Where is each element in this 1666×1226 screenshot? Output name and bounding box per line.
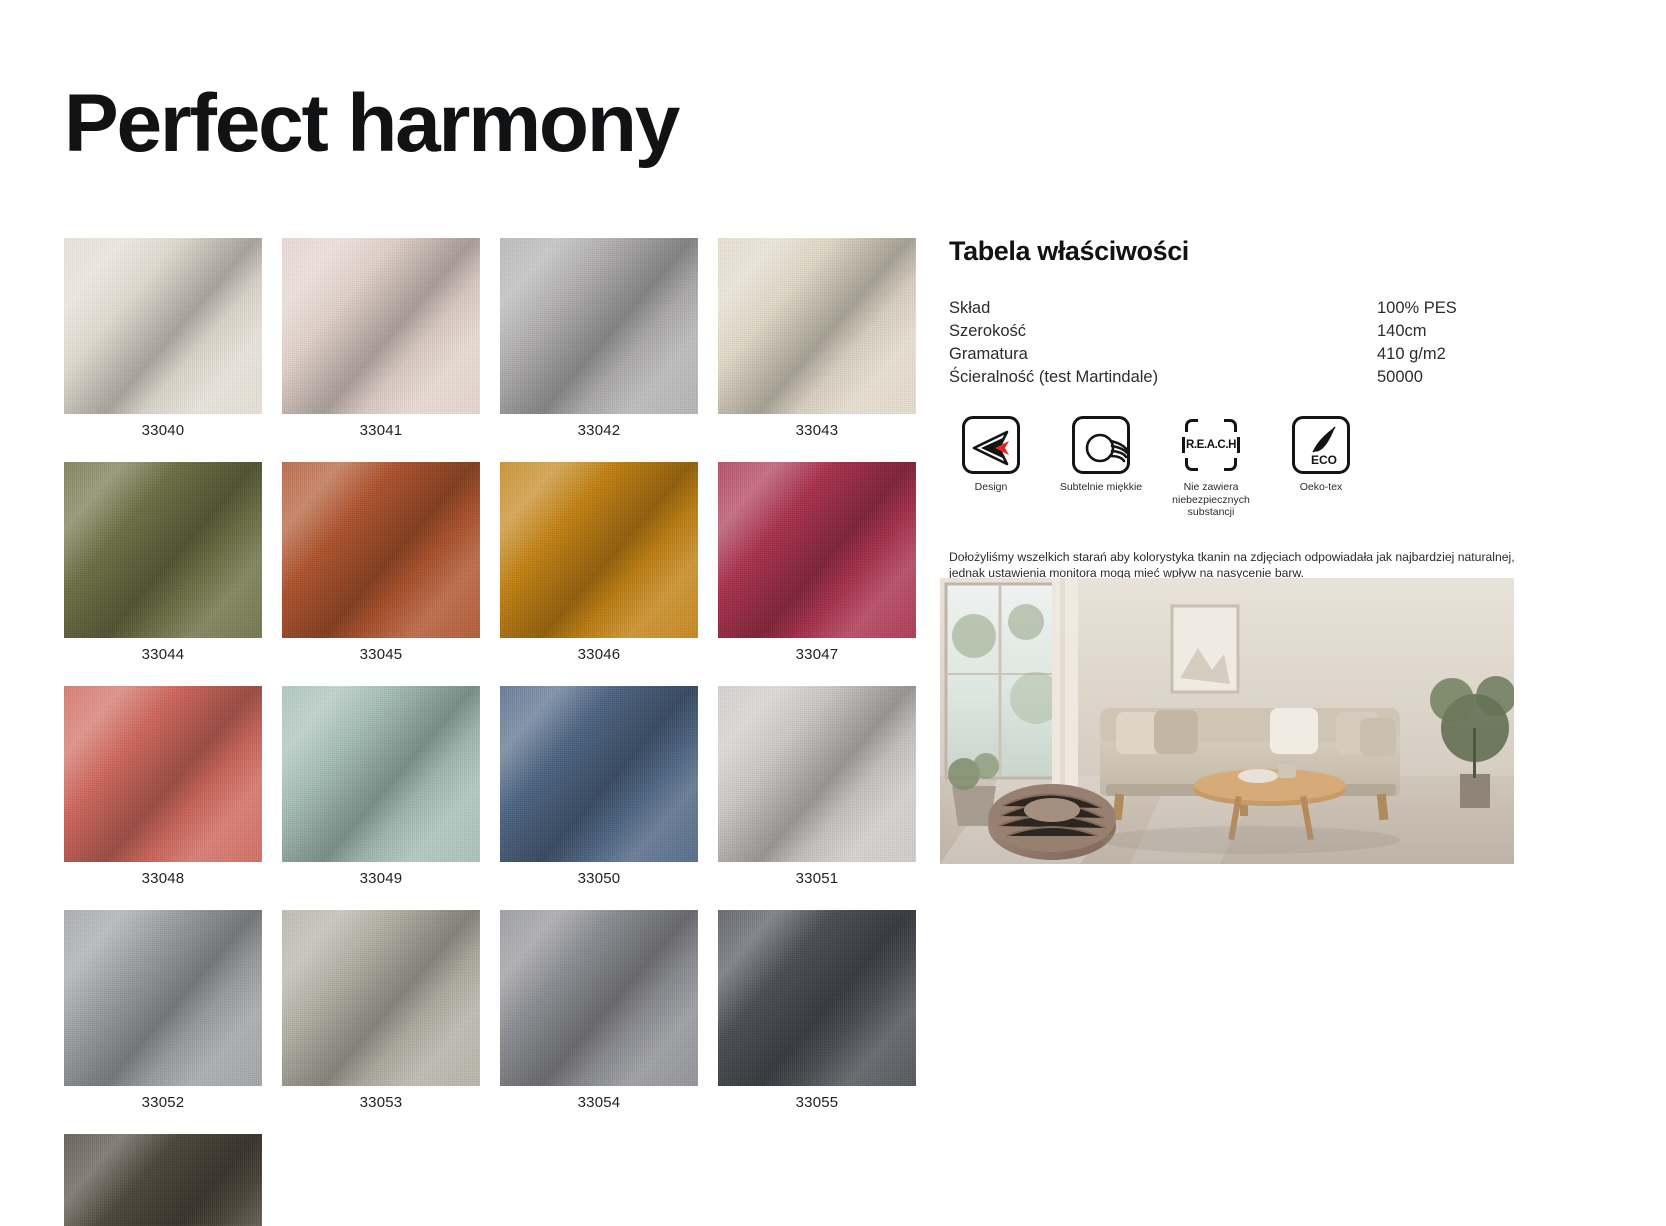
fabric-swatch[interactable]: 33050	[500, 686, 698, 894]
badge-caption: Oeko-tex	[1279, 481, 1363, 494]
spec-value: 50000	[1377, 366, 1529, 389]
fabric-swatch-image[interactable]	[64, 1134, 262, 1226]
fabric-swatch-image[interactable]	[500, 462, 698, 638]
fabric-texture	[64, 910, 262, 1086]
fabric-texture	[282, 910, 480, 1086]
fabric-swatch-code: 33049	[282, 862, 480, 894]
room-interior-photo	[940, 578, 1514, 864]
fabric-texture	[500, 686, 698, 862]
fabric-swatch[interactable]: 33051	[718, 686, 916, 894]
certification-badge: R.E.A.C.HNie zawiera niebezpiecznych sub…	[1169, 416, 1253, 519]
fabric-swatch-code: 33048	[64, 862, 262, 894]
fabric-swatch[interactable]: 33044	[64, 462, 262, 670]
spec-value: 410 g/m2	[1377, 343, 1529, 366]
fabric-swatch-code: 33053	[282, 1086, 480, 1118]
fabric-texture	[64, 462, 262, 638]
fabric-swatch-code: 33055	[718, 1086, 916, 1118]
fabric-swatch[interactable]: 33043	[718, 238, 916, 446]
fabric-texture	[64, 1134, 262, 1226]
fabric-swatch-image[interactable]	[282, 238, 480, 414]
specification-panel: Tabela właściwości Skład100% PESSzerokoś…	[949, 236, 1529, 613]
spec-key: Szerokość	[949, 320, 1377, 343]
oeko-tex-leaf-icon: ECO	[1295, 419, 1350, 474]
fabric-swatch-image[interactable]	[718, 462, 916, 638]
fabric-swatch[interactable]: 33040	[64, 238, 262, 446]
fabric-swatch-image[interactable]	[64, 462, 262, 638]
certification-badges: DesignSubtelnie miękkieR.E.A.C.HNie zawi…	[949, 416, 1529, 519]
catalog-page: Perfect harmony 330403304133042330433304…	[0, 0, 1666, 1226]
reach-label: R.E.A.C.H	[1182, 439, 1240, 451]
fabric-swatch[interactable]: 33054	[500, 910, 698, 1118]
fabric-swatch-image[interactable]	[500, 686, 698, 862]
fabric-swatch[interactable]: 33047	[718, 462, 916, 670]
fabric-swatch-image[interactable]	[500, 910, 698, 1086]
fabric-swatch-image[interactable]	[718, 686, 916, 862]
fabric-swatch-code: 33047	[718, 638, 916, 670]
certification-badge: Design	[949, 416, 1033, 519]
badge-caption: Subtelnie miękkie	[1059, 481, 1143, 494]
fabric-swatch-image[interactable]	[64, 686, 262, 862]
spec-value: 140cm	[1377, 320, 1529, 343]
fabric-texture	[718, 686, 916, 862]
fabric-swatch[interactable]: 33055	[718, 910, 916, 1118]
interior-illustration	[940, 578, 1514, 864]
disclaimer-paragraph-1: Dołożyliśmy wszelkich starań aby kolorys…	[949, 549, 1525, 581]
fabric-swatch-image[interactable]	[282, 462, 480, 638]
spec-row: Szerokość140cm	[949, 320, 1529, 343]
fabric-swatch-image[interactable]	[282, 686, 480, 862]
fabric-swatch-image[interactable]	[500, 238, 698, 414]
fabric-swatch-code: 33042	[500, 414, 698, 446]
spec-row: Skład100% PES	[949, 297, 1529, 320]
page-title: Perfect harmony	[64, 81, 678, 167]
spec-key: Ścieralność (test Martindale)	[949, 366, 1377, 389]
fabric-texture	[282, 238, 480, 414]
spec-key: Skład	[949, 297, 1377, 320]
fabric-swatch[interactable]: 33046	[500, 462, 698, 670]
badge-caption: Design	[949, 481, 1033, 494]
badge-caption: Nie zawiera niebezpiecznych substancji	[1169, 481, 1253, 519]
fabric-texture	[500, 238, 698, 414]
spec-value: 100% PES	[1377, 297, 1529, 320]
fabric-texture	[500, 910, 698, 1086]
fabric-swatch-code: 33040	[64, 414, 262, 446]
spec-table: Skład100% PESSzerokość140cmGramatura410 …	[949, 297, 1529, 389]
fabric-swatch-image[interactable]	[64, 238, 262, 414]
fabric-swatch-code: 33044	[64, 638, 262, 670]
design-arrow-icon	[962, 416, 1020, 474]
fabric-swatch[interactable]: 33048	[64, 686, 262, 894]
fabric-swatch-code: 33054	[500, 1086, 698, 1118]
fabric-swatch[interactable]: 33045	[282, 462, 480, 670]
fabric-swatch-image[interactable]	[64, 910, 262, 1086]
fabric-swatch-code: 33041	[282, 414, 480, 446]
soft-touch-icon	[1075, 419, 1130, 474]
fabric-swatch-image[interactable]	[718, 910, 916, 1086]
fabric-swatch-code: 33046	[500, 638, 698, 670]
fabric-swatch-code: 33050	[500, 862, 698, 894]
fabric-swatch[interactable]: 33042	[500, 238, 698, 446]
certification-badge: Subtelnie miękkie	[1059, 416, 1143, 519]
fabric-texture	[64, 686, 262, 862]
fabric-texture	[282, 462, 480, 638]
fabric-swatch[interactable]: 33041	[282, 238, 480, 446]
fabric-texture	[718, 910, 916, 1086]
design-arrow-icon	[965, 419, 1020, 474]
fabric-swatch-code: 33043	[718, 414, 916, 446]
fabric-texture	[718, 238, 916, 414]
spec-key: Gramatura	[949, 343, 1377, 366]
fabric-swatch-image[interactable]	[718, 238, 916, 414]
fabric-texture	[718, 462, 916, 638]
fabric-texture	[500, 462, 698, 638]
spec-row: Gramatura410 g/m2	[949, 343, 1529, 366]
fabric-swatch[interactable]: 33052	[64, 910, 262, 1118]
fabric-swatch[interactable]: 33056	[64, 1134, 262, 1226]
fabric-swatch-code: 33045	[282, 638, 480, 670]
spec-row: Ścieralność (test Martindale)50000	[949, 366, 1529, 389]
fabric-swatch-code: 33051	[718, 862, 916, 894]
fabric-texture	[282, 686, 480, 862]
fabric-swatch[interactable]: 33049	[282, 686, 480, 894]
fabric-swatch-image[interactable]	[282, 910, 480, 1086]
fabric-swatch-code: 33052	[64, 1086, 262, 1118]
spec-table-title: Tabela właściwości	[949, 236, 1529, 267]
reach-icon: R.E.A.C.H	[1182, 416, 1240, 474]
oeko-tex-leaf-icon: ECO	[1292, 416, 1350, 474]
certification-badge: ECOOeko-tex	[1279, 416, 1363, 519]
soft-touch-icon	[1072, 416, 1130, 474]
fabric-texture	[64, 238, 262, 414]
fabric-swatch[interactable]: 33053	[282, 910, 480, 1118]
svg-text:ECO: ECO	[1311, 453, 1337, 467]
